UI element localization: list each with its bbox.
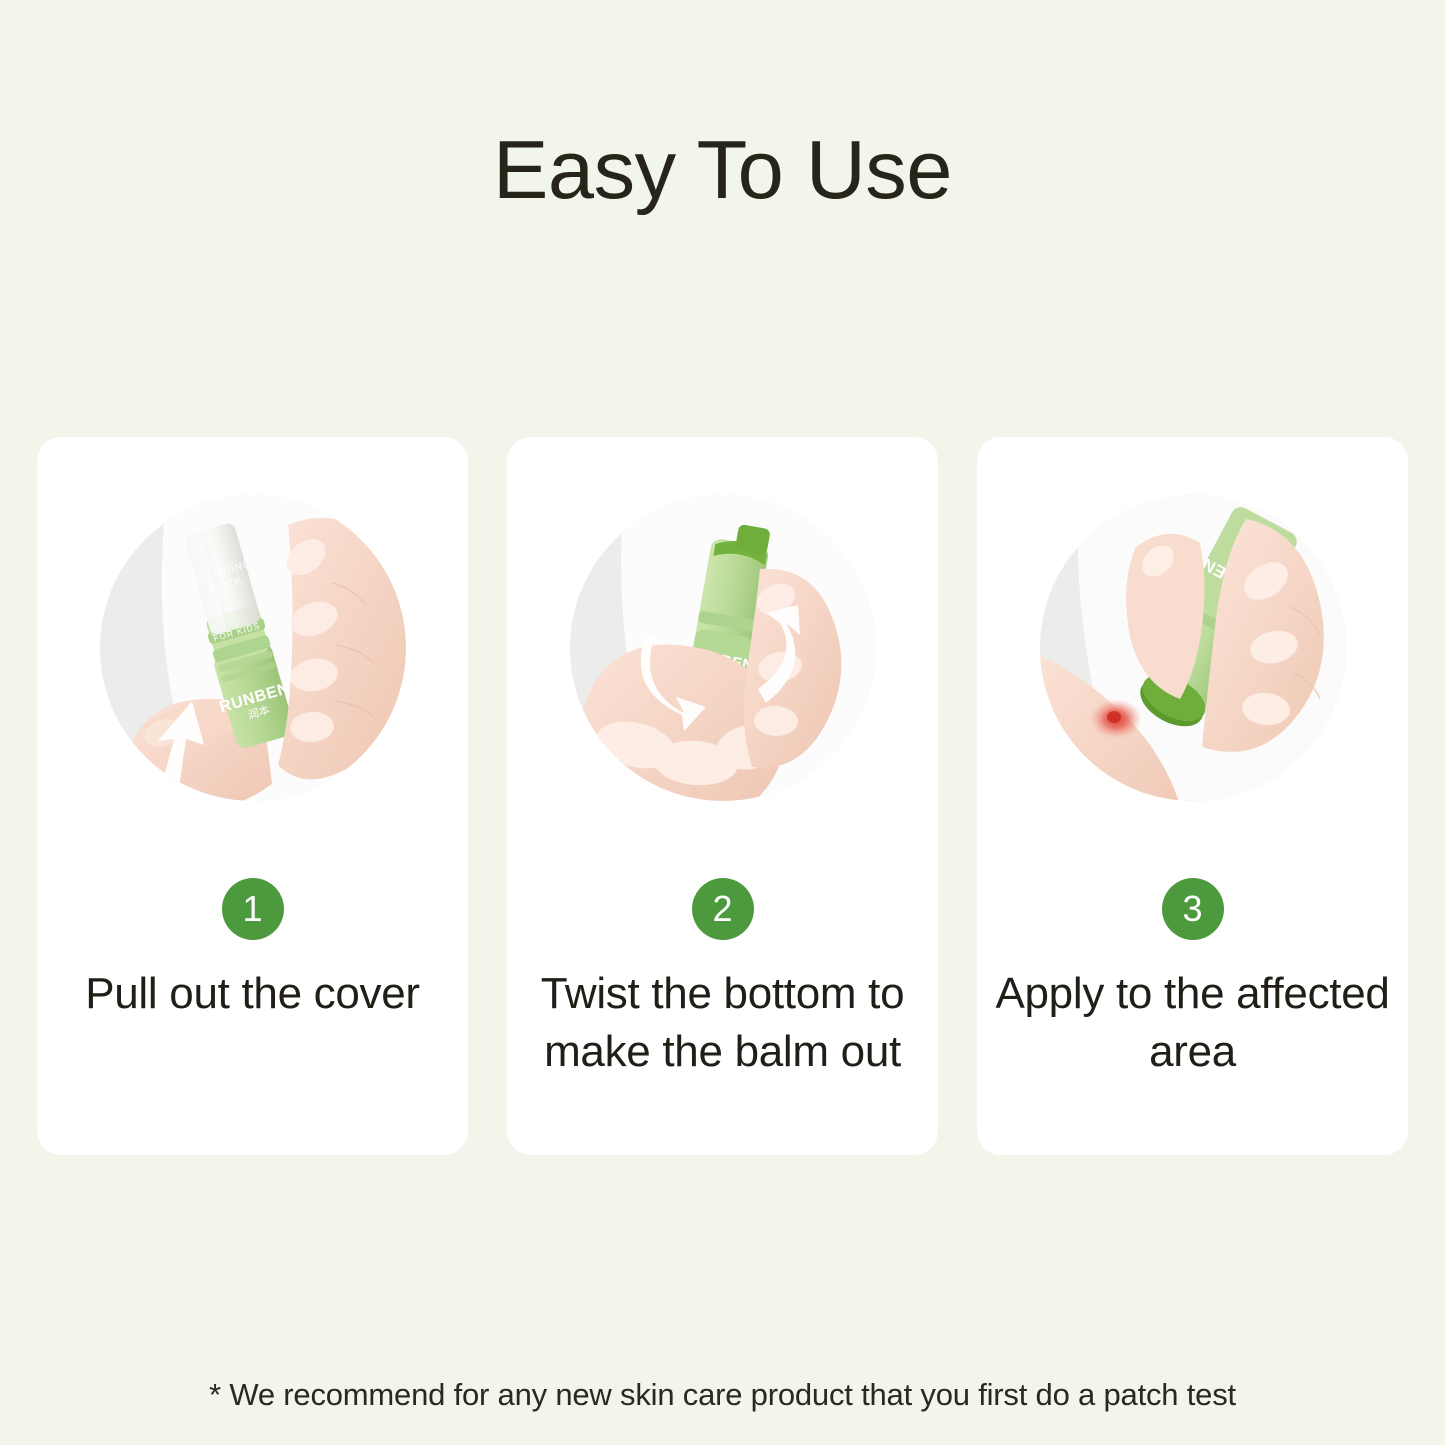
step-number-badge-2: 2 [692,878,754,940]
step-card-1: SOOTHING STICK FOR KIDS RUNBEN 润本 [37,437,468,1155]
step-1-photo: SOOTHING STICK FOR KIDS RUNBEN 润本 [100,495,406,801]
step-caption-1: Pull out the cover [37,965,468,1023]
step-card-2: RUNBEN 润本 [507,437,938,1155]
step-card-3: RUNBEN 润本 [977,437,1408,1155]
step-caption-3: Apply to the affected area [977,965,1408,1081]
page-title: Easy To Use [0,128,1445,211]
apply-to-skin-illustration: RUNBEN 润本 [1040,495,1346,801]
step-caption-2: Twist the bottom to make the balm out [507,965,938,1081]
patch-test-note: * We recommend for any new skin care pro… [0,1375,1445,1415]
pull-off-cap-illustration: SOOTHING STICK FOR KIDS RUNBEN 润本 [100,495,406,801]
step-number-badge-1: 1 [222,878,284,940]
step-2-photo: RUNBEN 润本 [570,495,876,801]
step-3-photo: RUNBEN 润本 [1040,495,1346,801]
twist-bottom-illustration: RUNBEN 润本 [570,495,876,801]
steps-row: SOOTHING STICK FOR KIDS RUNBEN 润本 [37,437,1408,1155]
step-number-badge-3: 3 [1162,878,1224,940]
